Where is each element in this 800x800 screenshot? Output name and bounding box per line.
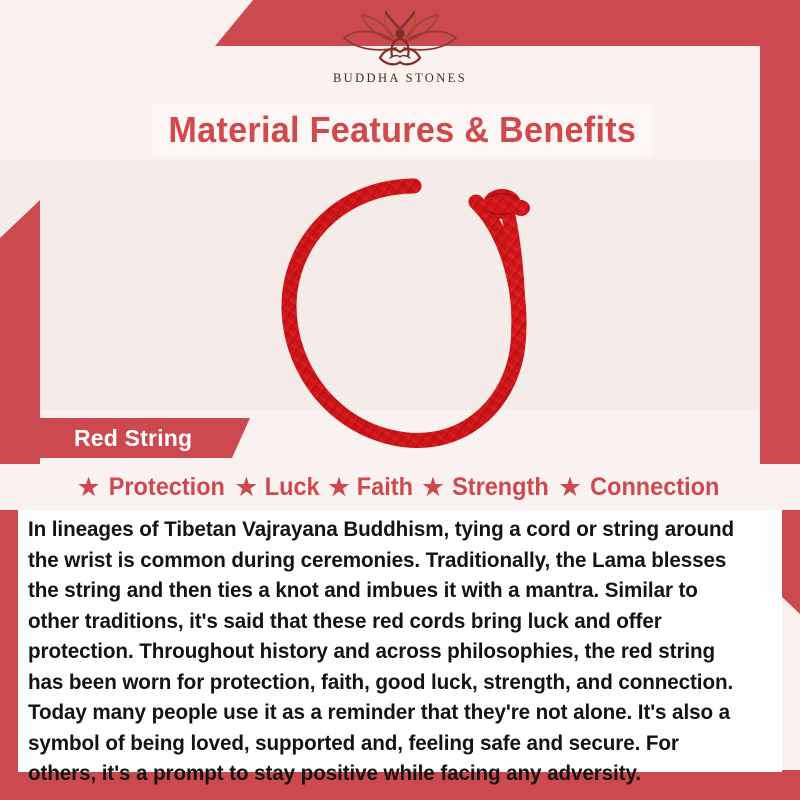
brand-name: BUDDHA STONES	[333, 71, 467, 86]
star-icon: ★	[327, 474, 351, 501]
benefit-item-faith: ★ Faith	[327, 473, 415, 502]
page-title: Material Features & Benefits	[168, 109, 636, 151]
benefit-label: Connection	[590, 473, 719, 502]
benefit-label: Faith	[357, 473, 413, 502]
benefit-item-connection: ★ Connection	[558, 473, 724, 502]
material-name-label: Red String	[74, 425, 192, 452]
description-area: In lineages of Tibetan Vajrayana Buddhis…	[18, 510, 782, 772]
bracelet-knot	[483, 189, 530, 219]
infographic-page: BUDDHA STONES Material Features & Benefi…	[0, 0, 800, 800]
benefit-item-luck: ★ Luck	[234, 473, 321, 502]
star-icon: ★	[558, 474, 582, 501]
description-text: In lineages of Tibetan Vajrayana Buddhis…	[28, 514, 750, 789]
title-band: Material Features & Benefits	[152, 104, 652, 156]
benefit-label: Luck	[264, 473, 319, 502]
star-icon: ★	[234, 474, 258, 501]
brand-logo: BUDDHA STONES	[0, 8, 800, 100]
star-icon: ★	[421, 474, 445, 501]
red-string-bracelet-image	[262, 168, 562, 458]
benefit-label: Strength	[452, 473, 549, 502]
benefit-item-protection: ★ Protection	[76, 473, 228, 502]
star-icon: ★	[76, 474, 100, 501]
benefit-label: Protection	[108, 473, 224, 502]
lotus-meditation-logo-icon	[334, 8, 466, 70]
benefit-item-strength: ★ Strength	[421, 473, 552, 502]
material-name-banner: Red String	[20, 418, 250, 458]
benefits-row: ★ Protection ★ Luck ★ Faith ★ Strength ★…	[0, 464, 800, 510]
